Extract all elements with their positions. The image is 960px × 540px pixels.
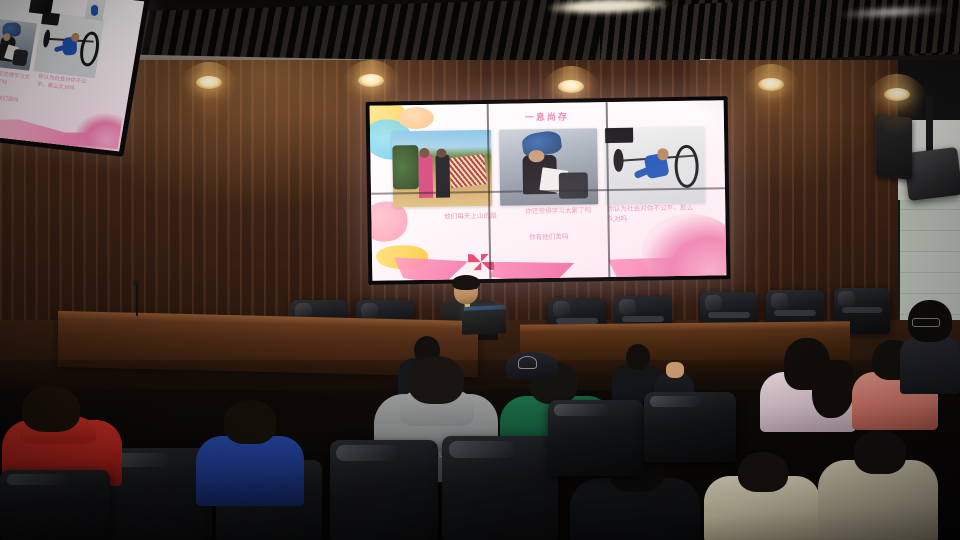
long-hair [812, 360, 854, 418]
desk-microphone-head [133, 280, 139, 286]
audience-student-cream-jacket [704, 452, 820, 540]
slide-caption-left: 他们每天上山的路 [415, 211, 525, 222]
audience-student-beige-coat [818, 430, 938, 540]
audience-student-glasses-right [900, 300, 960, 390]
slide-photo-children-harvest [392, 130, 492, 208]
downlight-2 [358, 74, 384, 87]
main-video-wall: 一息尚存 他们每天上山的路 你还觉得学习太累了吗 你认为社会对你不公平，那么久对… [370, 100, 727, 281]
cap-logo-icon [518, 356, 537, 369]
audience-student-red-hoodie [2, 386, 122, 482]
seat-front-2 [442, 436, 558, 540]
downlight-glow-5 [866, 74, 928, 136]
downlight-5 [884, 88, 910, 101]
slide-caption-middle: 你还觉得学习太累了吗 [525, 206, 597, 217]
secondary-photo-thumb [84, 0, 106, 21]
slide-title: 一息尚存 [525, 110, 569, 124]
slide-photo-para-athlete [605, 127, 705, 205]
seat-front-1 [330, 440, 438, 540]
secondary-slide-flower-decoration [74, 111, 123, 150]
downlight-glow-1 [178, 62, 240, 124]
seat-front-left [0, 470, 110, 540]
presenter-laptop [462, 309, 506, 335]
seat-mid-right [548, 400, 644, 476]
downlight-4 [758, 78, 784, 91]
secondary-photo-athlete [33, 12, 105, 78]
slide-caption-right: 你认为社会对你不公平，那么久对吗 [607, 204, 693, 224]
secondary-monitor-left: 你还觉得学习太累了吗 你认为社会对你不公平，那么久对吗 你有他们苦吗 [0, 0, 144, 151]
presentation-slide: 一息尚存 他们每天上山的路 你还觉得学习太累了吗 你认为社会对你不公平，那么久对… [370, 100, 727, 281]
downlight-glow-4 [740, 64, 802, 126]
audience-student-blue-jacket [196, 400, 304, 500]
desk-microphone-stem [136, 284, 138, 316]
presenter-glasses [456, 288, 477, 294]
seat-mid-right-2 [644, 392, 736, 462]
slide-photo-student-studying [499, 128, 599, 206]
secondary-photo-camera [29, 0, 54, 15]
audience-black-cap [506, 352, 558, 382]
slide-photo-row [392, 127, 705, 208]
audience-student-pink-top [760, 338, 856, 430]
lecture-hall-scene: 你还觉得学习太累了吗 你认为社会对你不公平，那么久对吗 你有他们苦吗 一息尚存 [0, 0, 960, 540]
secondary-monitor-screen: 你还觉得学习太累了吗 你认为社会对你不公平，那么久对吗 你有他们苦吗 [0, 0, 144, 151]
downlight-3 [558, 80, 584, 93]
slide-caption-center: 你有他们苦吗 [529, 233, 569, 243]
eyeglasses-icon [912, 318, 940, 327]
downlight-1 [196, 76, 222, 89]
